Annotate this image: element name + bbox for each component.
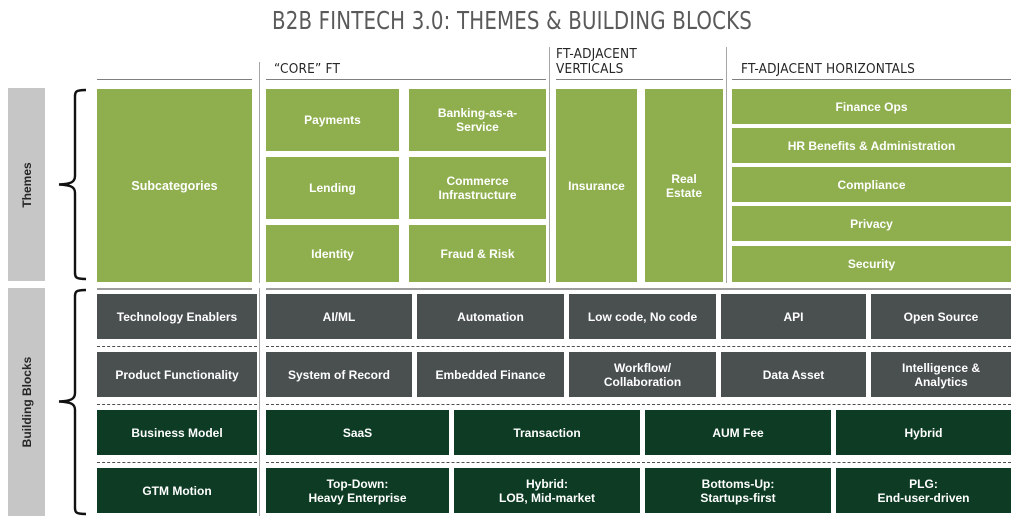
bb-row-label-business-model[interactable]: Business Model [97,410,257,455]
theme-core-payments[interactable]: Payments [266,89,399,151]
header-rule-core-ft [266,79,546,80]
rail-themes: Themes [8,88,45,281]
bb-bm-saas[interactable]: SaaS [266,410,449,455]
theme-horizontal-privacy[interactable]: Privacy [732,206,1011,241]
theme-horizontal-compliance[interactable]: Compliance [732,167,1011,202]
bb-pf-system-of-record[interactable]: System of Record [266,352,412,397]
theme-core-fraud-and-risk[interactable]: Fraud & Risk [409,225,546,282]
bb-tech-automation[interactable]: Automation [417,294,564,339]
bb-tech-low-code-no-code[interactable]: Low code, No code [569,294,716,339]
divider-verticals [549,47,550,283]
header-rule-horizontals [732,79,1011,80]
bb-pf-data-asset[interactable]: Data Asset [721,352,866,397]
bb-gtm-plg-end-user-driven[interactable]: PLG: End-user-driven [836,468,1011,513]
header-rule-verticals [556,79,723,80]
band-rule-left [97,288,252,290]
bb-bm-aum-fee[interactable]: AUM Fee [645,410,831,455]
theme-core-identity[interactable]: Identity [266,225,399,282]
row-dash-1-right [266,346,1011,347]
slide-canvas: B2B FINTECH 3.0: THEMES & BUILDING BLOCK… [0,0,1024,521]
rail-building-blocks: Building Blocks [8,288,45,516]
bb-gtm-hybrid-lob-mid-market[interactable]: Hybrid: LOB, Mid-market [454,468,640,513]
bb-bm-transaction[interactable]: Transaction [454,410,640,455]
rail-building-blocks-label: Building Blocks [20,357,34,448]
bb-row-label-gtm-motion[interactable]: GTM Motion [97,468,257,513]
theme-subcategories[interactable]: Subcategories [97,89,252,282]
group-label-ft-adjacent-horizontals: FT-ADJACENT HORIZONTALS [741,62,915,77]
bb-pf-intelligence-analytics[interactable]: Intelligence & Analytics [871,352,1011,397]
band-rule-right [266,288,1011,290]
theme-core-lending[interactable]: Lending [266,157,399,219]
theme-horizontal-hr-benefits-administration[interactable]: HR Benefits & Administration [732,128,1011,163]
theme-vertical-insurance[interactable]: Insurance [556,89,637,282]
theme-horizontal-finance-ops[interactable]: Finance Ops [732,89,1011,124]
bb-tech-api[interactable]: API [721,294,866,339]
bb-tech-ai-ml[interactable]: AI/ML [266,294,412,339]
group-label-ft-adjacent-verticals: FT-ADJACENT VERTICALS [556,47,637,77]
page-title: B2B FINTECH 3.0: THEMES & BUILDING BLOCK… [61,6,962,35]
bb-bm-hybrid[interactable]: Hybrid [836,410,1011,455]
row-dash-3-right [266,462,1011,463]
theme-vertical-real-estate[interactable]: Real Estate [645,89,723,282]
brace-building-blocks [57,288,87,516]
theme-core-banking-as-a-service[interactable]: Banking-as-a- Service [409,89,546,151]
theme-horizontal-security[interactable]: Security [732,246,1011,282]
theme-core-commerce-infrastructure[interactable]: Commerce Infrastructure [409,157,546,219]
divider-building-blocks [259,288,260,516]
brace-themes [57,88,87,281]
rail-themes-label: Themes [20,162,34,207]
bb-row-label-technology-enablers[interactable]: Technology Enablers [97,294,257,339]
bb-pf-workflow-collaboration[interactable]: Workflow/ Collaboration [569,352,716,397]
bb-pf-embedded-finance[interactable]: Embedded Finance [417,352,564,397]
header-rule-subcategories [97,79,252,80]
row-dash-2-left [97,404,257,405]
bb-row-label-product-functionality[interactable]: Product Functionality [97,352,257,397]
row-dash-2-right [266,404,1011,405]
bb-tech-open-source[interactable]: Open Source [871,294,1011,339]
row-dash-1-left [97,346,257,347]
row-dash-3-left [97,462,257,463]
group-label-core-ft: “CORE” FT [274,62,340,77]
divider-core-ft [259,62,260,283]
bb-gtm-top-down-heavy-enterprise[interactable]: Top-Down: Heavy Enterprise [266,468,449,513]
bb-gtm-bottoms-up-startups-first[interactable]: Bottoms-Up: Startups-first [645,468,831,513]
divider-horizontals [726,47,727,283]
